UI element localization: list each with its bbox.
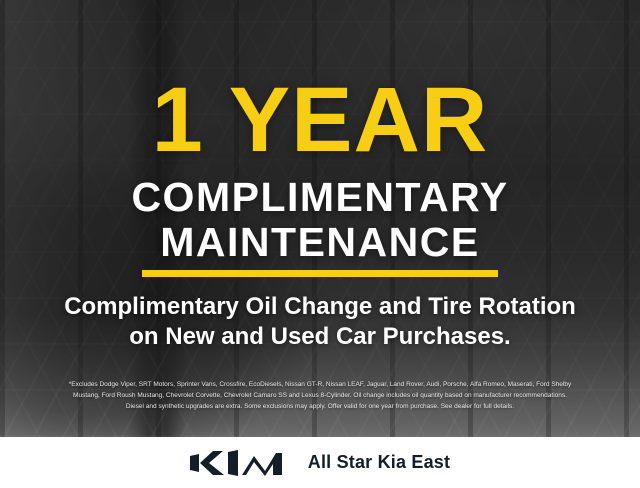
subheadline-line-2: on New and Used Car Purchases.	[0, 322, 640, 352]
yellow-divider-bar	[142, 270, 498, 277]
hero-banner: 1 YEAR COMPLIMENTARY MAINTENANCE Complim…	[0, 0, 640, 437]
kia-logo-icon	[190, 450, 282, 476]
disclaimer-line-1: *Excludes Dodge Viper, SRT Motors, Sprin…	[16, 379, 624, 390]
headline-line-1: 1 YEAR	[0, 74, 640, 166]
disclaimer-line-2: Mustang, Ford Roush Mustang, Chevrolet C…	[16, 390, 624, 401]
subheadline-line-1: Complimentary Oil Change and Tire Rotati…	[0, 292, 640, 322]
headline-line-2: COMPLIMENTARY	[0, 177, 640, 218]
kia-maintenance-ad: 1 YEAR COMPLIMENTARY MAINTENANCE Complim…	[0, 0, 640, 488]
disclaimer-line-3: Diesel and synthetic upgrades are extra.…	[16, 401, 624, 412]
headline-line-3: MAINTENANCE	[0, 222, 640, 263]
dealer-name-label: All Star Kia East	[308, 452, 450, 473]
footer-bar: All Star Kia East	[0, 437, 640, 488]
footer-brand-lockup: All Star Kia East	[190, 450, 450, 476]
hero-content: 1 YEAR COMPLIMENTARY MAINTENANCE Complim…	[0, 0, 640, 437]
disclaimer-text: *Excludes Dodge Viper, SRT Motors, Sprin…	[16, 379, 624, 412]
